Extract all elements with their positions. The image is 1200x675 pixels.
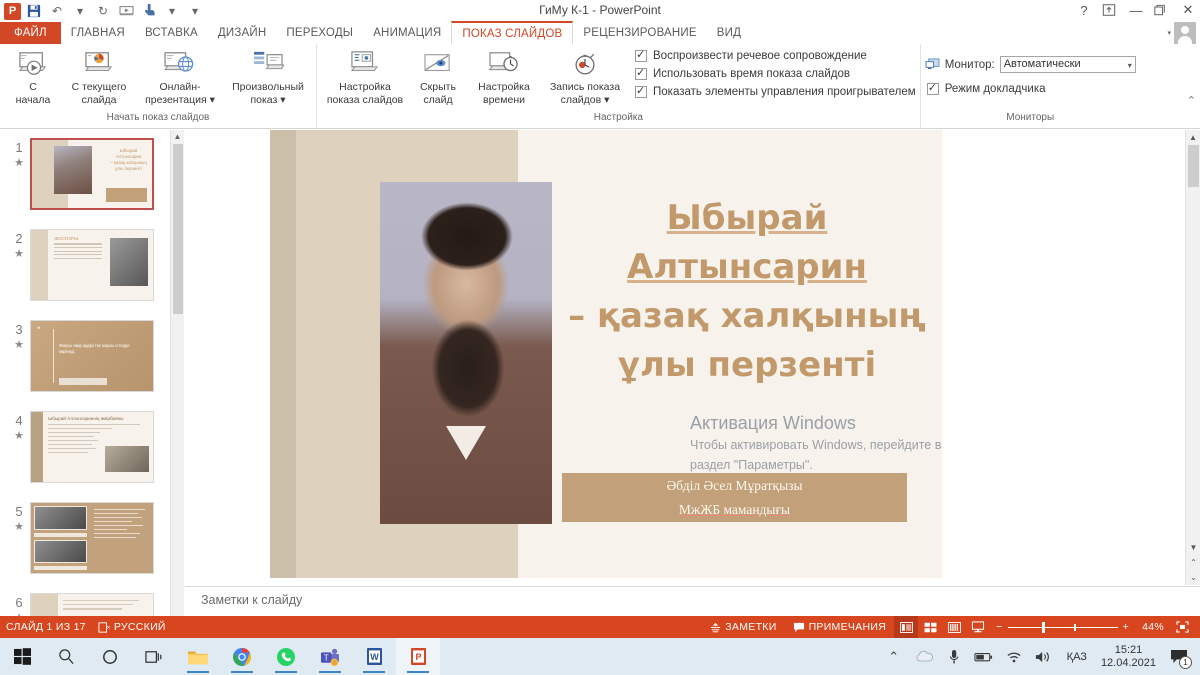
slide-thumbnail-2-canvas[interactable]: ЖОСПАРЫ bbox=[30, 229, 154, 301]
search-icon[interactable] bbox=[44, 638, 88, 675]
slide-number-4: 4 ★ bbox=[8, 411, 30, 483]
notes-toggle-button[interactable]: ЗАМЕТКИ bbox=[702, 616, 784, 638]
slide-title[interactable]: Ыбырай Алтынсарин – қазақ халқының ұлы п… bbox=[562, 194, 932, 390]
slide-number-1: 1 ★ bbox=[8, 138, 30, 210]
scroll-thumb[interactable] bbox=[173, 144, 183, 314]
group-label-setup: Настройка bbox=[321, 112, 916, 124]
portrait-beard-shading bbox=[420, 312, 516, 440]
setup-checkbox-list: Воспроизвести речевое сопровождение Испо… bbox=[629, 46, 916, 98]
show-media-controls-checkbox[interactable]: Показать элементы управления проигрывате… bbox=[635, 86, 916, 98]
window-controls: ? — ✕ bbox=[1076, 2, 1196, 18]
record-slide-show-label-1: Запись показа bbox=[550, 81, 620, 93]
file-explorer-icon[interactable] bbox=[176, 638, 220, 675]
tab-file[interactable]: ФАЙЛ bbox=[0, 22, 61, 44]
thumbnail-pane-scrollbar[interactable]: ▲ bbox=[170, 130, 184, 616]
restore-button[interactable] bbox=[1154, 4, 1170, 16]
from-current-slide-button[interactable]: С текущего слайда bbox=[62, 46, 136, 106]
hide-slide-icon bbox=[422, 48, 454, 80]
show-media-controls-label: Показать элементы управления проигрывате… bbox=[653, 86, 916, 98]
custom-slide-show-icon bbox=[252, 48, 284, 80]
slide-thumbnail-4-canvas[interactable]: Ыбырай Алтынсариннің өмірбаяны bbox=[30, 411, 154, 483]
ribbon-group-start-slideshow: С начала С текущего слайда Онлайн- презе… bbox=[0, 44, 317, 128]
present-online-label-1: Онлайн- bbox=[159, 81, 200, 93]
system-tray: ⌃ ҚАЗ 15:21 12.04.2021 1 bbox=[879, 638, 1200, 675]
reading-view-button[interactable] bbox=[942, 616, 966, 638]
tab-animations[interactable]: АНИМАЦИЯ bbox=[363, 22, 451, 44]
custom-slide-show-label-2: показ ▾ bbox=[250, 94, 285, 106]
user-account-area: ▾ bbox=[1167, 22, 1196, 44]
presenter-view-checkbox[interactable]: Режим докладчика bbox=[925, 83, 1046, 95]
slide-edit-area[interactable]: Ыбырай Алтынсарин – қазақ халқының ұлы п… bbox=[185, 130, 1185, 585]
zoom-out-button[interactable]: − bbox=[996, 621, 1002, 633]
slide-scroll-down-icon[interactable]: ▼ bbox=[1186, 540, 1200, 555]
slide-thumbnail-1[interactable]: 1 ★ Ыбырай Алтынсарин– қазақ халқыныңұлы… bbox=[8, 138, 154, 210]
clock-date: 12.04.2021 bbox=[1101, 657, 1156, 670]
slide-left-band bbox=[270, 130, 296, 578]
slide-number-6-text: 6 bbox=[15, 595, 22, 610]
slide-number-3-text: 3 bbox=[15, 322, 22, 337]
next-slide-icon[interactable]: ⌄ bbox=[1186, 570, 1200, 585]
tab-design[interactable]: ДИЗАЙН bbox=[208, 22, 276, 44]
from-beginning-label-1: С bbox=[29, 81, 37, 93]
title-bar: P ↶ ▾ ↻ ▾ ▾ ГиМу К-1 - PowerPoint ? — bbox=[0, 0, 1200, 22]
language-indicator[interactable]: × РУССКИЙ bbox=[98, 621, 166, 633]
slide-thumbnail-3[interactable]: 3 ★ ❝ Жақсы өмір қадірі тек жақсы істерд… bbox=[8, 320, 154, 392]
battery-icon[interactable] bbox=[969, 638, 999, 675]
slide-thumbnail-5[interactable]: 5 ★ bbox=[8, 502, 154, 574]
clock[interactable]: 15:21 12.04.2021 bbox=[1095, 644, 1162, 670]
tab-view[interactable]: ВИД bbox=[707, 22, 751, 44]
notes-placeholder: Заметки к слайду bbox=[201, 593, 302, 607]
word-icon[interactable]: W bbox=[352, 638, 396, 675]
monitor-selector-row: Монитор: Автоматически bbox=[925, 56, 1136, 73]
zoom-in-button[interactable]: + bbox=[1123, 621, 1129, 633]
microsoft-teams-icon[interactable]: T bbox=[308, 638, 352, 675]
slide-subtitle-line-1: Әбділ Әсел Мұратқызы bbox=[666, 478, 802, 494]
status-bar: СЛАЙД 1 ИЗ 17 × РУССКИЙ ЗАМЕТКИ ПРИМЕЧАН… bbox=[0, 616, 1200, 638]
group-label-start-slideshow: Начать показ слайдов bbox=[4, 112, 312, 124]
whatsapp-icon[interactable] bbox=[264, 638, 308, 675]
show-media-controls-checkbox-box[interactable] bbox=[635, 86, 647, 98]
rehearse-timings-label-1: Настройка bbox=[478, 81, 530, 93]
notes-icon bbox=[710, 622, 721, 633]
previous-slide-icon[interactable]: ⌃ bbox=[1186, 555, 1200, 570]
use-timings-label: Использовать время показа слайдов bbox=[653, 68, 850, 80]
scroll-up-icon[interactable]: ▲ bbox=[171, 130, 184, 144]
collapse-ribbon-icon[interactable]: ⌃ bbox=[1187, 94, 1196, 107]
slide-thumbnail-4[interactable]: 4 ★ Ыбырай Алтынсариннің өмірбаяны bbox=[8, 411, 154, 483]
notification-badge: 1 bbox=[1179, 656, 1192, 669]
ribbon-display-options-icon[interactable] bbox=[1102, 3, 1118, 17]
slide-title-line-1: Ыбырай Алтынсарин bbox=[627, 198, 867, 287]
zoom-percent-label[interactable]: 44% bbox=[1134, 621, 1164, 633]
slide-title-line-3: ұлы перзенті bbox=[618, 345, 876, 385]
slide-number-2-text: 2 bbox=[15, 231, 22, 246]
tab-review[interactable]: РЕЦЕНЗИРОВАНИЕ bbox=[573, 22, 706, 44]
normal-view-button[interactable] bbox=[894, 616, 918, 638]
slide-number-4-text: 4 bbox=[15, 413, 22, 428]
set-up-slide-show-icon bbox=[349, 48, 381, 80]
rehearse-timings-button[interactable]: Настройка времени bbox=[467, 46, 541, 106]
zoom-control[interactable]: − + 44% bbox=[990, 621, 1170, 633]
language-indicator-tray[interactable]: ҚАЗ bbox=[1059, 651, 1095, 663]
status-bar-right: ЗАМЕТКИ ПРИМЕЧАНИЯ − bbox=[702, 616, 1200, 638]
slide-thumbnail-2[interactable]: 2 ★ ЖОСПАРЫ bbox=[8, 229, 154, 301]
zoom-slider-handle[interactable] bbox=[1042, 622, 1045, 633]
zoom-slider[interactable] bbox=[1008, 627, 1118, 628]
monitor-select[interactable]: Автоматически bbox=[1000, 56, 1136, 73]
use-timings-checkbox-box[interactable] bbox=[635, 68, 647, 80]
hide-slide-button[interactable]: Скрыть слайд bbox=[409, 46, 467, 106]
animation-star-icon-1[interactable]: ★ bbox=[8, 156, 30, 169]
set-up-slide-show-label-1: Настройка bbox=[339, 81, 391, 93]
slide-sorter-view-button[interactable] bbox=[918, 616, 942, 638]
set-up-slide-show-button[interactable]: Настройка показа слайдов bbox=[321, 46, 409, 106]
slide-thumbnail-pane[interactable]: 1 ★ Ыбырай Алтынсарин– қазақ халқыныңұлы… bbox=[0, 130, 170, 616]
presenter-view-checkbox-box[interactable] bbox=[927, 83, 939, 95]
onedrive-icon[interactable] bbox=[909, 638, 939, 675]
animation-star-icon-2[interactable]: ★ bbox=[8, 247, 30, 260]
fit-slide-to-window-button[interactable] bbox=[1170, 616, 1194, 638]
set-up-slide-show-label-2: показа слайдов bbox=[327, 94, 403, 106]
slide-area-scrollbar[interactable]: ▲ ▼ ⌃ ⌄ bbox=[1185, 130, 1200, 585]
present-online-label-2: презентация ▾ bbox=[145, 94, 215, 106]
present-online-button[interactable]: Онлайн- презентация ▾ bbox=[136, 46, 224, 106]
help-icon[interactable]: ? bbox=[1076, 3, 1092, 18]
volume-icon[interactable] bbox=[1029, 638, 1059, 675]
slide-thumbnail-6-canvas[interactable] bbox=[30, 593, 154, 616]
language-label: РУССКИЙ bbox=[114, 621, 166, 633]
tab-slideshow[interactable]: ПОКАЗ СЛАЙДОВ bbox=[451, 21, 573, 44]
slide-thumbnail-5-canvas[interactable] bbox=[30, 502, 154, 574]
hide-slide-label-1: Скрыть bbox=[420, 81, 456, 93]
animation-star-icon-4[interactable]: ★ bbox=[8, 429, 30, 442]
from-current-slide-label-1: С текущего bbox=[72, 81, 127, 93]
svg-text:W: W bbox=[370, 652, 379, 662]
slide-scroll-up-icon[interactable]: ▲ bbox=[1186, 130, 1200, 145]
svg-text:×: × bbox=[106, 624, 109, 631]
clock-time: 15:21 bbox=[1101, 644, 1156, 657]
windows-taskbar: T W P ⌃ ҚАЗ 15: bbox=[0, 638, 1200, 675]
cortana-icon[interactable] bbox=[88, 638, 132, 675]
monitor-label: Монитор: bbox=[945, 59, 995, 71]
record-slide-show-button[interactable]: Запись показа слайдов ▾ bbox=[541, 46, 629, 106]
comments-toggle-button[interactable]: ПРИМЕЧАНИЯ bbox=[785, 616, 895, 638]
slideshow-view-button[interactable] bbox=[966, 616, 990, 638]
rehearse-timings-label-2: времени bbox=[483, 94, 525, 106]
slide-scroll-bottom-controls[interactable]: ▼ ⌃ ⌄ bbox=[1186, 540, 1200, 585]
play-narrations-checkbox[interactable]: Воспроизвести речевое сопровождение bbox=[635, 50, 916, 62]
start-button[interactable] bbox=[0, 638, 44, 675]
microphone-icon[interactable] bbox=[939, 638, 969, 675]
slide-title-line-2: – қазақ халқының bbox=[568, 296, 926, 336]
monitor-icon bbox=[925, 58, 940, 71]
hide-slide-label-2: слайд bbox=[423, 94, 452, 106]
slide-thumbnail-3-canvas[interactable]: ❝ Жақсы өмір қадірі тек жақсы істерде кө… bbox=[30, 320, 154, 392]
slide-thumbnail-6[interactable]: 6 ★ bbox=[8, 593, 154, 616]
tab-transitions[interactable]: ПЕРЕХОДЫ bbox=[276, 22, 363, 44]
task-view-icon[interactable] bbox=[132, 638, 176, 675]
from-beginning-icon bbox=[17, 48, 49, 80]
chrome-icon[interactable] bbox=[220, 638, 264, 675]
window-title: ГиМу К-1 - PowerPoint bbox=[0, 3, 1200, 17]
slide-canvas[interactable]: Ыбырай Алтынсарин – қазақ халқының ұлы п… bbox=[270, 130, 942, 578]
watermark-title: Активация Windows bbox=[690, 413, 990, 434]
comments-toggle-label: ПРИМЕЧАНИЯ bbox=[809, 621, 887, 633]
animation-star-icon-5[interactable]: ★ bbox=[8, 520, 30, 533]
spellcheck-icon: × bbox=[98, 622, 110, 633]
slide-number-5: 5 ★ bbox=[8, 502, 30, 574]
comment-icon bbox=[793, 622, 805, 633]
avatar[interactable] bbox=[1174, 22, 1196, 44]
play-narrations-checkbox-box[interactable] bbox=[635, 50, 647, 62]
slide-indicator[interactable]: СЛАЙД 1 ИЗ 17 bbox=[6, 621, 86, 633]
slide-number-2: 2 ★ bbox=[8, 229, 30, 301]
slide-number-5-text: 5 bbox=[15, 504, 22, 519]
svg-text:T: T bbox=[324, 653, 329, 662]
watermark-text-line-1: Чтобы активировать Windows, перейдите в bbox=[690, 437, 990, 454]
custom-slide-show-button[interactable]: Произвольный показ ▾ bbox=[224, 46, 312, 106]
slide-thumbnail-1-canvas[interactable]: Ыбырай Алтынсарин– қазақ халқыныңұлы пер… bbox=[30, 138, 154, 210]
tab-insert[interactable]: ВСТАВКА bbox=[135, 22, 208, 44]
zoom-slider-midpoint bbox=[1074, 624, 1076, 631]
svg-text:P: P bbox=[415, 652, 421, 662]
portrait-hair-shading bbox=[406, 196, 528, 284]
powerpoint-icon[interactable]: P bbox=[396, 638, 440, 675]
slide-number-1-text: 1 bbox=[15, 140, 22, 155]
from-beginning-label-2: начала bbox=[16, 94, 51, 106]
tab-home[interactable]: ГЛАВНАЯ bbox=[61, 22, 135, 44]
from-current-slide-icon bbox=[83, 48, 115, 80]
presenter-view-label: Режим докладчика bbox=[945, 83, 1046, 95]
notes-toggle-label: ЗАМЕТКИ bbox=[725, 621, 776, 633]
ribbon-group-setup: Настройка показа слайдов Скрыть слайд На… bbox=[317, 44, 921, 128]
ribbon-group-monitors: Монитор: Автоматически Режим докладчика … bbox=[921, 44, 1140, 128]
slide-number-6: 6 ★ bbox=[8, 593, 30, 616]
record-slide-show-label-2: слайдов ▾ bbox=[561, 94, 610, 106]
slide-scroll-thumb[interactable] bbox=[1188, 145, 1199, 187]
record-slide-show-icon bbox=[569, 48, 601, 80]
custom-slide-show-label-1: Произвольный bbox=[232, 81, 304, 93]
present-online-icon bbox=[163, 48, 197, 80]
watermark-text-line-2: раздел "Параметры". bbox=[690, 457, 990, 474]
monitor-select-value: Автоматически bbox=[1004, 57, 1121, 72]
show-hidden-icons-icon[interactable]: ⌃ bbox=[879, 638, 909, 675]
slide-number-3: 3 ★ bbox=[8, 320, 30, 392]
ribbon: С начала С текущего слайда Онлайн- презе… bbox=[0, 44, 1200, 129]
use-timings-checkbox[interactable]: Использовать время показа слайдов bbox=[635, 68, 916, 80]
animation-star-icon-3[interactable]: ★ bbox=[8, 338, 30, 351]
notes-pane[interactable]: Заметки к слайду bbox=[185, 586, 1200, 616]
rehearse-timings-icon bbox=[488, 48, 520, 80]
group-label-monitors: Мониторы bbox=[925, 112, 1136, 124]
from-current-slide-label-2: слайда bbox=[81, 94, 116, 106]
powerpoint-window: P ↶ ▾ ↻ ▾ ▾ ГиМу К-1 - PowerPoint ? — bbox=[0, 0, 1200, 675]
slide-subtitle-line-2: МжЖБ мамандығы bbox=[679, 502, 790, 518]
account-dropdown-icon[interactable]: ▾ bbox=[1167, 29, 1171, 37]
from-beginning-button[interactable]: С начала bbox=[4, 46, 62, 106]
windows-activation-watermark: Активация Windows Чтобы активировать Win… bbox=[690, 413, 990, 474]
wifi-icon[interactable] bbox=[999, 638, 1029, 675]
notification-center-icon[interactable]: 1 bbox=[1162, 638, 1196, 675]
close-button[interactable]: ✕ bbox=[1180, 2, 1196, 18]
play-narrations-label: Воспроизвести речевое сопровождение bbox=[653, 50, 867, 62]
slide-subtitle-box[interactable]: Әбділ Әсел Мұратқызы МжЖБ мамандығы bbox=[562, 473, 907, 522]
minimize-button[interactable]: — bbox=[1128, 3, 1144, 18]
ribbon-tabs: ФАЙЛ ГЛАВНАЯ ВСТАВКА ДИЗАЙН ПЕРЕХОДЫ АНИ… bbox=[0, 22, 1200, 44]
